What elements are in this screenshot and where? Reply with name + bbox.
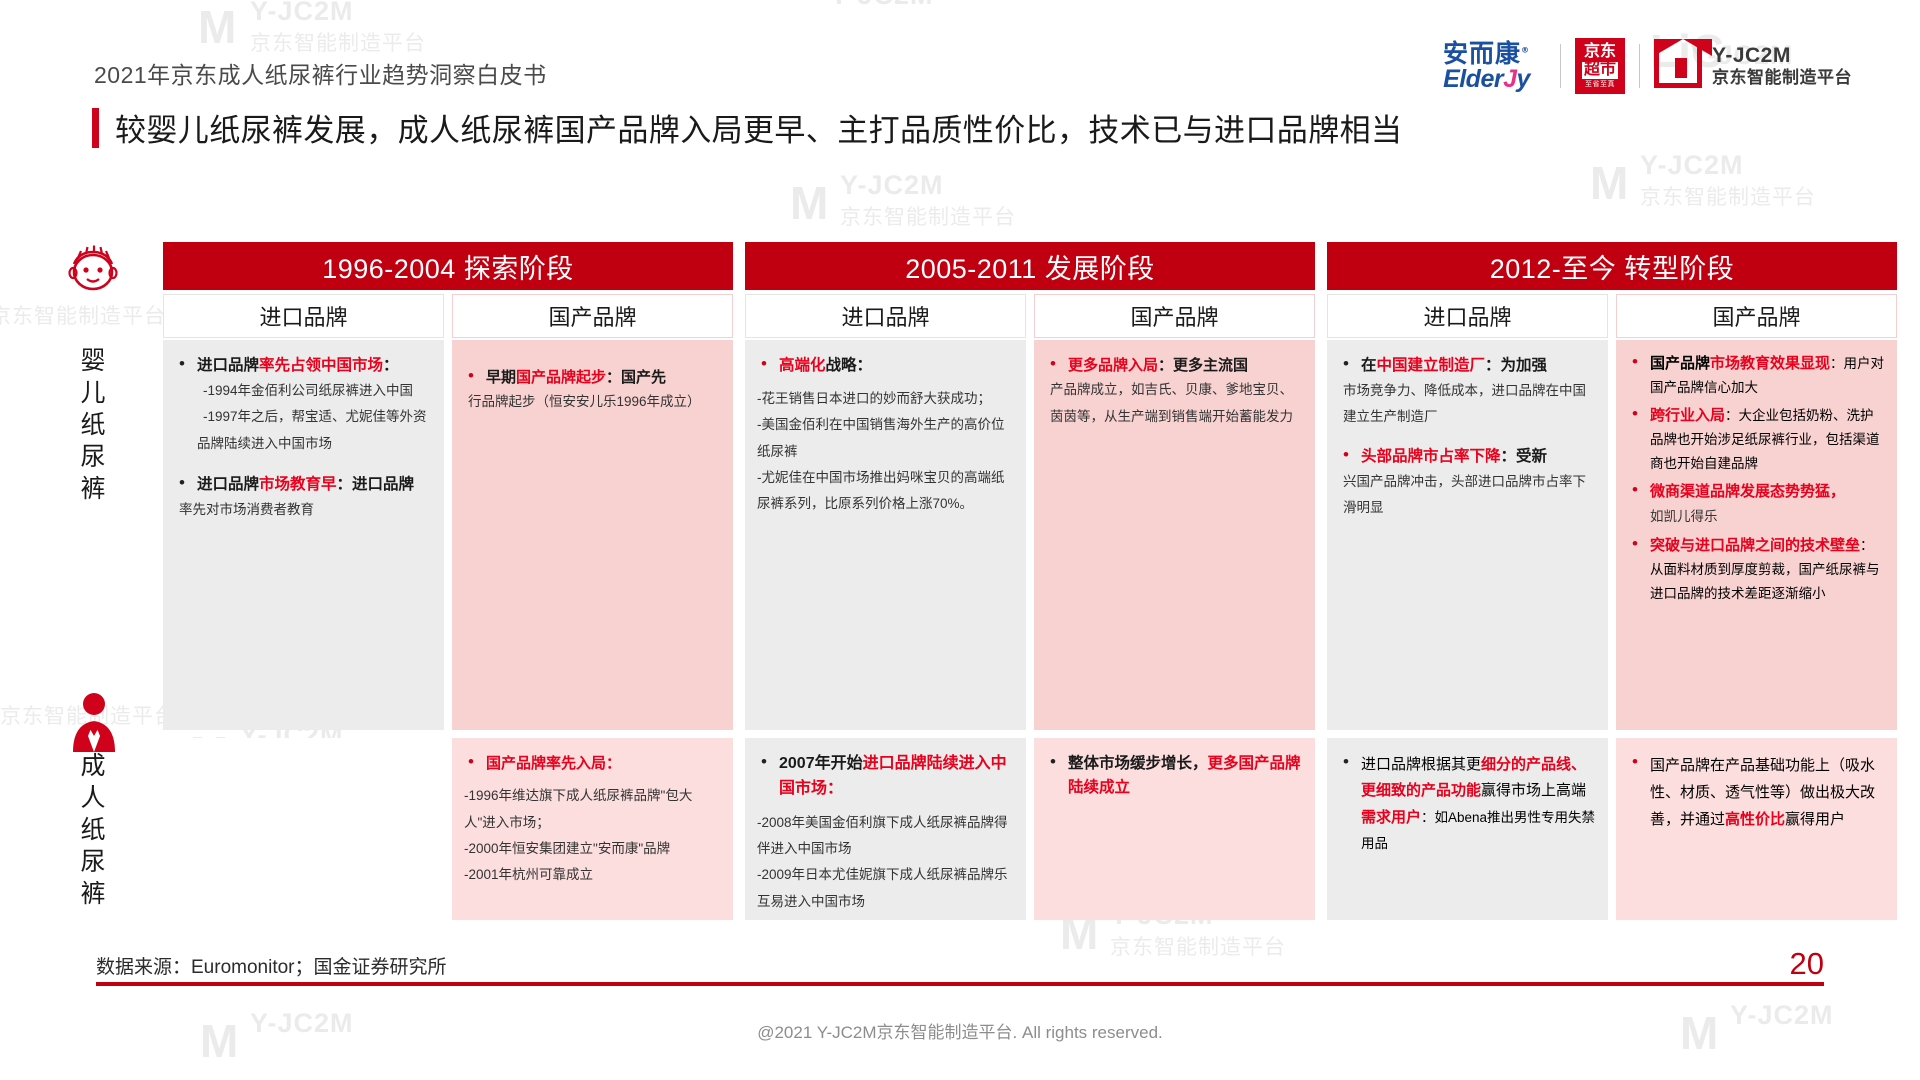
phase-header-2: 2005-2011 发展阶段 — [745, 242, 1315, 290]
bullet-head-plain: 战略： — [826, 357, 873, 374]
bullet-subline: 产品牌成立，如吉氏、贝康、爹地宝贝、茵茵等，从生产端到销售端开始蓄能发力 — [1050, 377, 1303, 430]
cell-p3-adult-import: 进口品牌根据其更细分的产品线、更细致的产品功能赢得市场上高端需求用户：如Aben… — [1327, 738, 1608, 920]
bullet-head-plain: 2007年开始 — [779, 755, 863, 772]
cell-p3-baby-domestic: 国产品牌市场教育效果显现：用户对国产品牌信心加大 跨行业入局：大企业包括奶粉、洗… — [1616, 340, 1897, 730]
bullet-heading: 国产品牌在产品基础功能上（吸水性、材质、透气性等）做出极大改善，并通过高性价比赢… — [1650, 752, 1885, 833]
bullet-subline: -2008年美国金佰利旗下成人纸尿裤品牌得伴进入中国市场 — [757, 810, 1014, 863]
sub-header-domestic-p1: 国产品牌 — [452, 294, 733, 338]
sub-header-domestic-p3: 国产品牌 — [1616, 294, 1897, 338]
adult-person-icon — [68, 690, 120, 752]
bullet-heading: 2007年开始进口品牌陆续进入中国市场： — [779, 752, 1014, 802]
bullet-item: 高端化战略： — [757, 354, 1014, 378]
elderjoy-en-j: J — [1503, 65, 1516, 93]
bullet-item: 微商渠道品牌发展态势势猛， 如凯儿得乐 — [1628, 480, 1885, 530]
bullet-head-plain: 进口品牌 — [197, 476, 259, 493]
bullet-item: 国产品牌市场教育效果显现：用户对国产品牌信心加大 — [1628, 352, 1885, 400]
bullet-head-plain: 整体市场缓步增长， — [1068, 755, 1208, 772]
document-title: 2021年京东成人纸尿裤行业趋势洞察白皮书 — [94, 56, 547, 90]
sub-header-import-p3: 进口品牌 — [1327, 294, 1608, 338]
title-accent-bar — [92, 108, 99, 148]
logo-divider — [1560, 44, 1561, 88]
jd-logo-line3: 至省至真 — [1585, 81, 1615, 88]
bullet-subline: -1997年之后，帮宝适、尤妮佳等外资品牌陆续进入中国市场 — [197, 404, 432, 457]
slide-header: 2021年京东成人纸尿裤行业趋势洞察白皮书 安而康® ElderJy 京东 超市… — [0, 0, 1920, 108]
bullet-item: 在中国建立制造厂：为加强 市场竞争力、降低成本，进口品牌在中国建立生产制造厂 — [1339, 354, 1596, 431]
bullet-subline: 率先对市场消费者教育 — [179, 497, 432, 523]
bullet-subline: 行品牌起步（恒安安儿乐1996年成立） — [468, 389, 721, 415]
bullet-subline: 市场竞争力、降低成本，进口品牌在中国建立生产制造厂 — [1343, 378, 1596, 431]
bullet-head-red: 突破与进口品牌之间的技术壁垒 — [1650, 537, 1860, 554]
bullet-head-plain: 在 — [1361, 357, 1377, 374]
bullet-heading: 头部品牌市占率下降：受新 — [1361, 445, 1596, 469]
sub-header-import-p2: 进口品牌 — [745, 294, 1026, 338]
sub-header-domestic-p2: 国产品牌 — [1034, 294, 1315, 338]
yjc2m-cn-text: 京东智能制造平台 — [1712, 68, 1852, 88]
bullet-subline: 如凯儿得乐 — [1650, 504, 1885, 530]
cell-p2-adult-import: 2007年开始进口品牌陆续进入中国市场： -2008年美国金佰利旗下成人纸尿裤品… — [745, 738, 1026, 920]
cell-p1-baby-import: 进口品牌率先占领中国市场： -1994年金佰利公司纸尿裤进入中国 -1997年之… — [163, 340, 444, 730]
row-label-baby: 婴儿纸尿裤 — [76, 345, 110, 505]
text-red: 需求用户 — [1361, 809, 1421, 826]
sub-header-import-p1: 进口品牌 — [163, 294, 444, 338]
bullet-item: 国产品牌率先入局： — [464, 752, 721, 775]
bullet-head-tail: ：为加强 — [1485, 357, 1547, 374]
bullet-heading: 整体市场缓步增长，更多国产品牌陆续成立 — [1068, 752, 1303, 800]
cell-p3-adult-domestic: 国产品牌在产品基础功能上（吸水性、材质、透气性等）做出极大改善，并通过高性价比赢… — [1616, 738, 1897, 920]
phase-header-1: 1996-2004 探索阶段 — [163, 242, 733, 290]
jd-logo-line1: 京东 — [1584, 44, 1616, 61]
bullet-subline: -美国金佰利在中国销售海外生产的高价位纸尿裤 — [757, 412, 1014, 465]
bullet-head-red: 头部品牌市占率下降 — [1361, 448, 1501, 465]
baby-icon — [65, 240, 121, 296]
bullet-head-red: 高端化 — [779, 357, 826, 374]
logo-divider — [1639, 44, 1640, 88]
bullet-heading: 突破与进口品牌之间的技术壁垒：从面料材质到厚度剪裁，国产纸尿裤与进口品牌的技术差… — [1650, 534, 1885, 606]
bullet-item: 头部品牌市占率下降：受新 兴国产品牌冲击，头部进口品牌市占率下滑明显 — [1339, 445, 1596, 522]
bullet-head-tail: ： — [383, 357, 399, 374]
bullet-heading: 早期国产品牌起步：国产先 — [486, 366, 721, 389]
elderjoy-logo: 安而康® ElderJy — [1443, 41, 1546, 92]
bullet-heading: 更多品牌入局：更多主流国 — [1068, 354, 1303, 377]
bullet-heading: 高端化战略： — [779, 354, 1014, 378]
phase-matrix: 婴儿纸尿裤 成人纸尿裤 1996-2004 探索阶段 进口品牌 国产品牌 进口品… — [0, 0, 1920, 1080]
text-red: 高性价比 — [1725, 811, 1785, 828]
bullet-heading: 进口品牌根据其更细分的产品线、更细致的产品功能赢得市场上高端需求用户：如Aben… — [1361, 752, 1596, 857]
bullet-item: 整体市场缓步增长，更多国产品牌陆续成立 — [1046, 752, 1303, 800]
bullet-heading: 国产品牌率先入局： — [486, 752, 721, 775]
text-plain: 赢得市场上高端 — [1481, 782, 1586, 799]
elderjoy-en-y: y — [1517, 65, 1530, 93]
bullet-item: 进口品牌根据其更细分的产品线、更细致的产品功能赢得市场上高端需求用户：如Aben… — [1339, 752, 1596, 857]
bullet-head-red: 市场教育效果显现 — [1710, 355, 1830, 372]
text-plain: 赢得用户 — [1785, 811, 1845, 828]
bullet-item: 国产品牌在产品基础功能上（吸水性、材质、透气性等）做出极大改善，并通过高性价比赢… — [1628, 752, 1885, 833]
yjc2m-logo: Y-JC2M 京东智能制造平台 — [1654, 44, 1852, 88]
bullet-head-red: 更多品牌入局 — [1068, 357, 1158, 374]
cell-p2-baby-import: 高端化战略： -花王销售日本进口的妙而舒大获成功； -美国金佰利在中国销售海外生… — [745, 340, 1026, 730]
elderjoy-en-text: Elder — [1443, 65, 1503, 93]
bullet-item: 突破与进口品牌之间的技术壁垒：从面料材质到厚度剪裁，国产纸尿裤与进口品牌的技术差… — [1628, 534, 1885, 606]
bullet-item: 2007年开始进口品牌陆续进入中国市场： — [757, 752, 1014, 802]
bullet-head-tail: ：国产先 — [606, 369, 666, 386]
bullet-head-red: 市场教育早 — [259, 476, 337, 493]
bullet-subline: -花王销售日本进口的妙而舒大获成功； — [757, 386, 1014, 412]
bullet-subline: -2001年杭州可靠成立 — [464, 862, 721, 888]
bullet-heading: 跨行业入局：大企业包括奶粉、洗护品牌也开始涉足纸尿裤行业，包括渠道商也开始自建品… — [1650, 404, 1885, 476]
cell-p1-adult-import — [163, 738, 444, 920]
yjc2m-en-text: Y-JC2M — [1712, 44, 1852, 68]
bullet-heading: 进口品牌率先占领中国市场： — [197, 354, 432, 378]
bullet-item: 早期国产品牌起步：国产先 行品牌起步（恒安安儿乐1996年成立） — [464, 366, 721, 416]
bullet-head-plain: 国产品牌 — [1650, 355, 1710, 372]
bullet-head-plain: 早期 — [486, 369, 516, 386]
phase-header-3: 2012-至今 转型阶段 — [1327, 242, 1897, 290]
text-plain: 进口品牌根据其更 — [1361, 756, 1481, 773]
page-title: 较婴儿纸尿裤发展，成人纸尿裤国产品牌入局更早、主打品质性价比，技术已与进口品牌相… — [115, 105, 1402, 150]
cell-p1-baby-domestic: 早期国产品牌起步：国产先 行品牌起步（恒安安儿乐1996年成立） — [452, 340, 733, 730]
page-number: 20 — [1790, 946, 1824, 982]
bullet-subline: -1994年金佰利公司纸尿裤进入中国 — [197, 378, 432, 404]
bullet-item: 跨行业入局：大企业包括奶粉、洗护品牌也开始涉足纸尿裤行业，包括渠道商也开始自建品… — [1628, 404, 1885, 476]
bullet-head-red: 中国建立制造厂 — [1377, 357, 1486, 374]
row-label-adult: 成人纸尿裤 — [76, 750, 110, 910]
bullet-head-red: 国产品牌起步 — [516, 369, 606, 386]
bullet-subline: -2000年恒安集团建立"安而康"品牌 — [464, 836, 721, 862]
bullet-heading: 微商渠道品牌发展态势势猛， — [1650, 480, 1885, 504]
bullet-head-tail: ：进口品牌 — [337, 476, 415, 493]
bullet-heading: 国产品牌市场教育效果显现：用户对国产品牌信心加大 — [1650, 352, 1885, 400]
bullet-head-red: 率先占领中国市场 — [259, 357, 383, 374]
bullet-heading: 在中国建立制造厂：为加强 — [1361, 354, 1596, 378]
bullet-head-plain: 进口品牌 — [197, 357, 259, 374]
copyright-text: @2021 Y-JC2M京东智能制造平台. All rights reserve… — [0, 1018, 1920, 1043]
bullet-item: 更多品牌入局：更多主流国 产品牌成立，如吉氏、贝康、爹地宝贝、茵茵等，从生产端到… — [1046, 354, 1303, 430]
logo-row: 安而康® ElderJy 京东 超市 至省至真 Y-JC2M 京东智能制造平台 — [1443, 38, 1852, 94]
bullet-subline: 兴国产品牌冲击，头部进口品牌市占率下滑明显 — [1343, 469, 1596, 522]
bullet-head-red: 跨行业入局 — [1650, 407, 1725, 424]
bullet-head-tail: ：受新 — [1501, 448, 1548, 465]
jd-logo-line2: 超市 — [1582, 62, 1618, 79]
bullet-head-tail: ：更多主流国 — [1158, 357, 1248, 374]
bullet-subline: -尤妮佳在中国市场推出妈咪宝贝的高端纸尿裤系列，比原系列价格上涨70%。 — [757, 465, 1014, 518]
bullet-item: 进口品牌市场教育早：进口品牌 率先对市场消费者教育 — [175, 473, 432, 523]
bullet-subline: -2009年日本尤佳妮旗下成人纸尿裤品牌乐互易进入中国市场 — [757, 862, 1014, 915]
cell-p3-baby-import: 在中国建立制造厂：为加强 市场竞争力、降低成本，进口品牌在中国建立生产制造厂 头… — [1327, 340, 1608, 730]
bullet-heading: 进口品牌市场教育早：进口品牌 — [197, 473, 432, 497]
cell-p2-baby-domestic: 更多品牌入局：更多主流国 产品牌成立，如吉氏、贝康、爹地宝贝、茵茵等，从生产端到… — [1034, 340, 1315, 730]
cell-p2-adult-domestic: 整体市场缓步增长，更多国产品牌陆续成立 — [1034, 738, 1315, 920]
main-title-wrap: 较婴儿纸尿裤发展，成人纸尿裤国产品牌入局更早、主打品质性价比，技术已与进口品牌相… — [92, 105, 1402, 150]
bullet-subline: -1996年维达旗下成人纸尿裤品牌"包大人"进入市场； — [464, 783, 721, 836]
elderjoy-cn-text: 安而康 — [1443, 39, 1521, 68]
footer-divider — [96, 982, 1824, 986]
bullet-item: 进口品牌率先占领中国市场： -1994年金佰利公司纸尿裤进入中国 -1997年之… — [175, 354, 432, 457]
data-source-note: 数据来源：Euromonitor；国金证券研究所 — [96, 952, 447, 979]
yjc2m-mark-icon — [1654, 44, 1702, 88]
jd-supermarket-logo: 京东 超市 至省至真 — [1575, 38, 1625, 94]
cell-p1-adult-domestic: 国产品牌率先入局： -1996年维达旗下成人纸尿裤品牌"包大人"进入市场； -2… — [452, 738, 733, 920]
